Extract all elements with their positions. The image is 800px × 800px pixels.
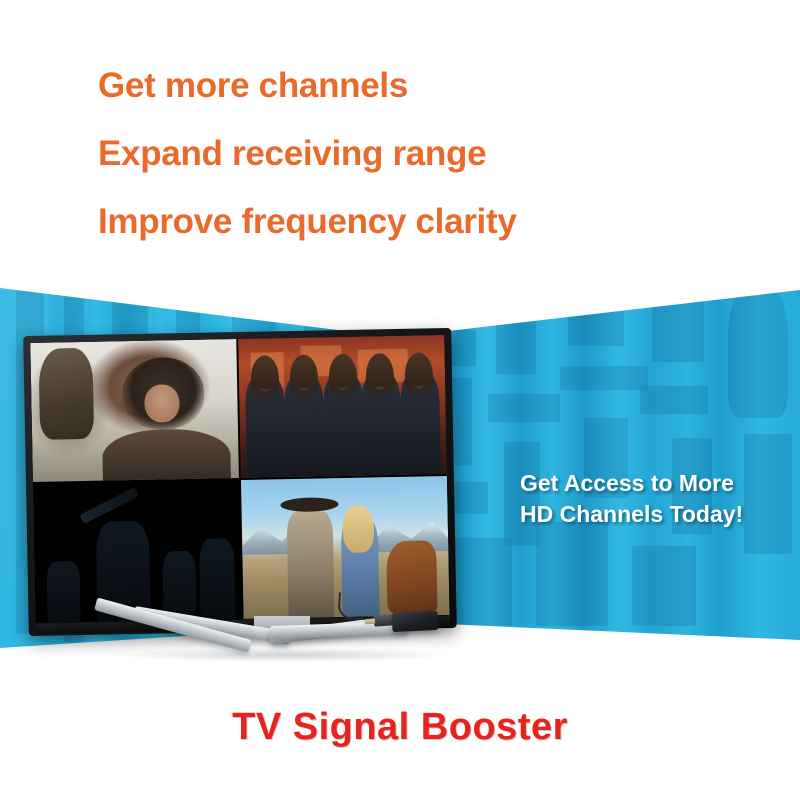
quadrant-cowboy-hat (280, 498, 338, 513)
headline-improve-frequency-clarity: Improve frequency clarity (98, 188, 718, 256)
quadrant-cowboy (287, 512, 334, 618)
tv-screen (30, 335, 449, 623)
overlay-marketing-text: Get Access to More HD Channels Today! (520, 468, 780, 530)
headline-list: Get more channels Expand receiving range… (98, 52, 718, 256)
product-title-caption: TV Signal Booster (0, 706, 800, 749)
product-advertisement-image: Get more channels Expand receiving range… (0, 0, 800, 800)
blue-panel-right-texture (400, 258, 800, 658)
tv-bezel (23, 328, 457, 636)
blue-panel-right (400, 258, 800, 658)
quadrant-woman-hair (342, 505, 374, 553)
quadrant-silhouette (47, 561, 81, 623)
quadrant-person (323, 376, 364, 477)
tv-signal-booster-device (392, 611, 439, 632)
quadrant-horse (386, 540, 437, 613)
quadrant-figure-secondary (39, 347, 94, 440)
quadrant-silhouette (162, 550, 196, 620)
tv-quadrant-top-left (30, 339, 239, 482)
quadrant-person (245, 377, 286, 478)
overlay-text-line-1: Get Access to More (520, 468, 780, 499)
quadrant-figure-cloak (102, 428, 231, 482)
headline-get-more-channels: Get more channels (98, 52, 718, 120)
television (23, 328, 457, 636)
quadrant-person (284, 376, 325, 477)
tv-quadrant-bottom-left (33, 480, 242, 623)
quadrant-person (400, 374, 441, 475)
tv-stand (150, 616, 410, 670)
tv-quadrant-top-right (238, 335, 447, 478)
quadrant-silhouette (199, 539, 236, 620)
quadrant-person (361, 375, 402, 476)
overlay-text-line-2: HD Channels Today! (520, 499, 780, 530)
quadrant-bat-prop (80, 487, 139, 524)
headline-expand-receiving-range: Expand receiving range (98, 120, 718, 188)
